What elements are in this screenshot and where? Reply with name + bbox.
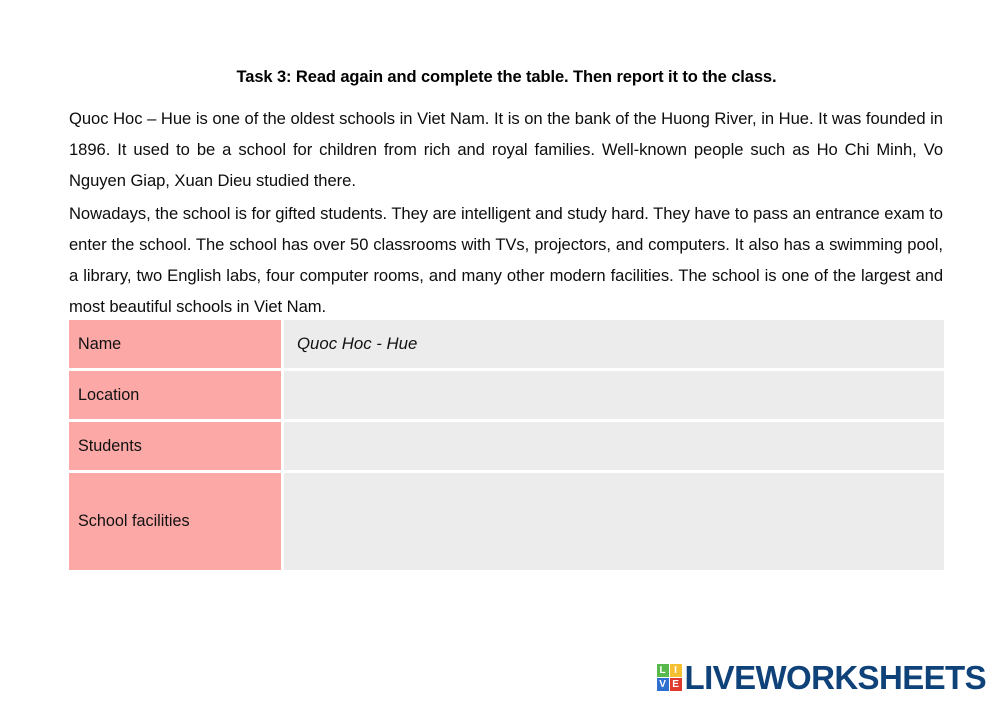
row-value-location[interactable] — [284, 371, 944, 422]
row-value-name[interactable]: Quoc Hoc - Hue — [284, 320, 944, 371]
logo-tile-i: I — [670, 664, 682, 677]
row-label-school-facilities: School facilities — [69, 473, 284, 570]
reading-paragraph-2: Nowadays, the school is for gifted stude… — [69, 198, 943, 322]
table-row: Location — [69, 371, 944, 422]
worksheet-page: Task 3: Read again and complete the tabl… — [0, 0, 999, 706]
table-row: School facilities — [69, 473, 944, 570]
row-label-location: Location — [69, 371, 284, 422]
logo-wordmark: LIVEWORKSHEETS — [685, 661, 986, 694]
row-value-school-facilities[interactable] — [284, 473, 944, 570]
logo-tile-l: L — [657, 664, 669, 677]
row-value-students[interactable] — [284, 422, 944, 473]
logo-tile-e: E — [670, 678, 682, 691]
liveworksheets-tiles-icon: L I V E — [657, 664, 682, 691]
reading-paragraph-1: Quoc Hoc – Hue is one of the oldest scho… — [69, 103, 943, 196]
table-row: Students — [69, 422, 944, 473]
table-row: Name Quoc Hoc - Hue — [69, 320, 944, 371]
logo-tile-v: V — [657, 678, 669, 691]
row-label-name: Name — [69, 320, 284, 371]
row-label-students: Students — [69, 422, 284, 473]
task-title: Task 3: Read again and complete the tabl… — [69, 68, 944, 87]
fact-file-table: Name Quoc Hoc - Hue Location Students Sc… — [69, 320, 944, 570]
liveworksheets-logo: L I V E LIVEWORKSHEETS — [657, 661, 986, 694]
